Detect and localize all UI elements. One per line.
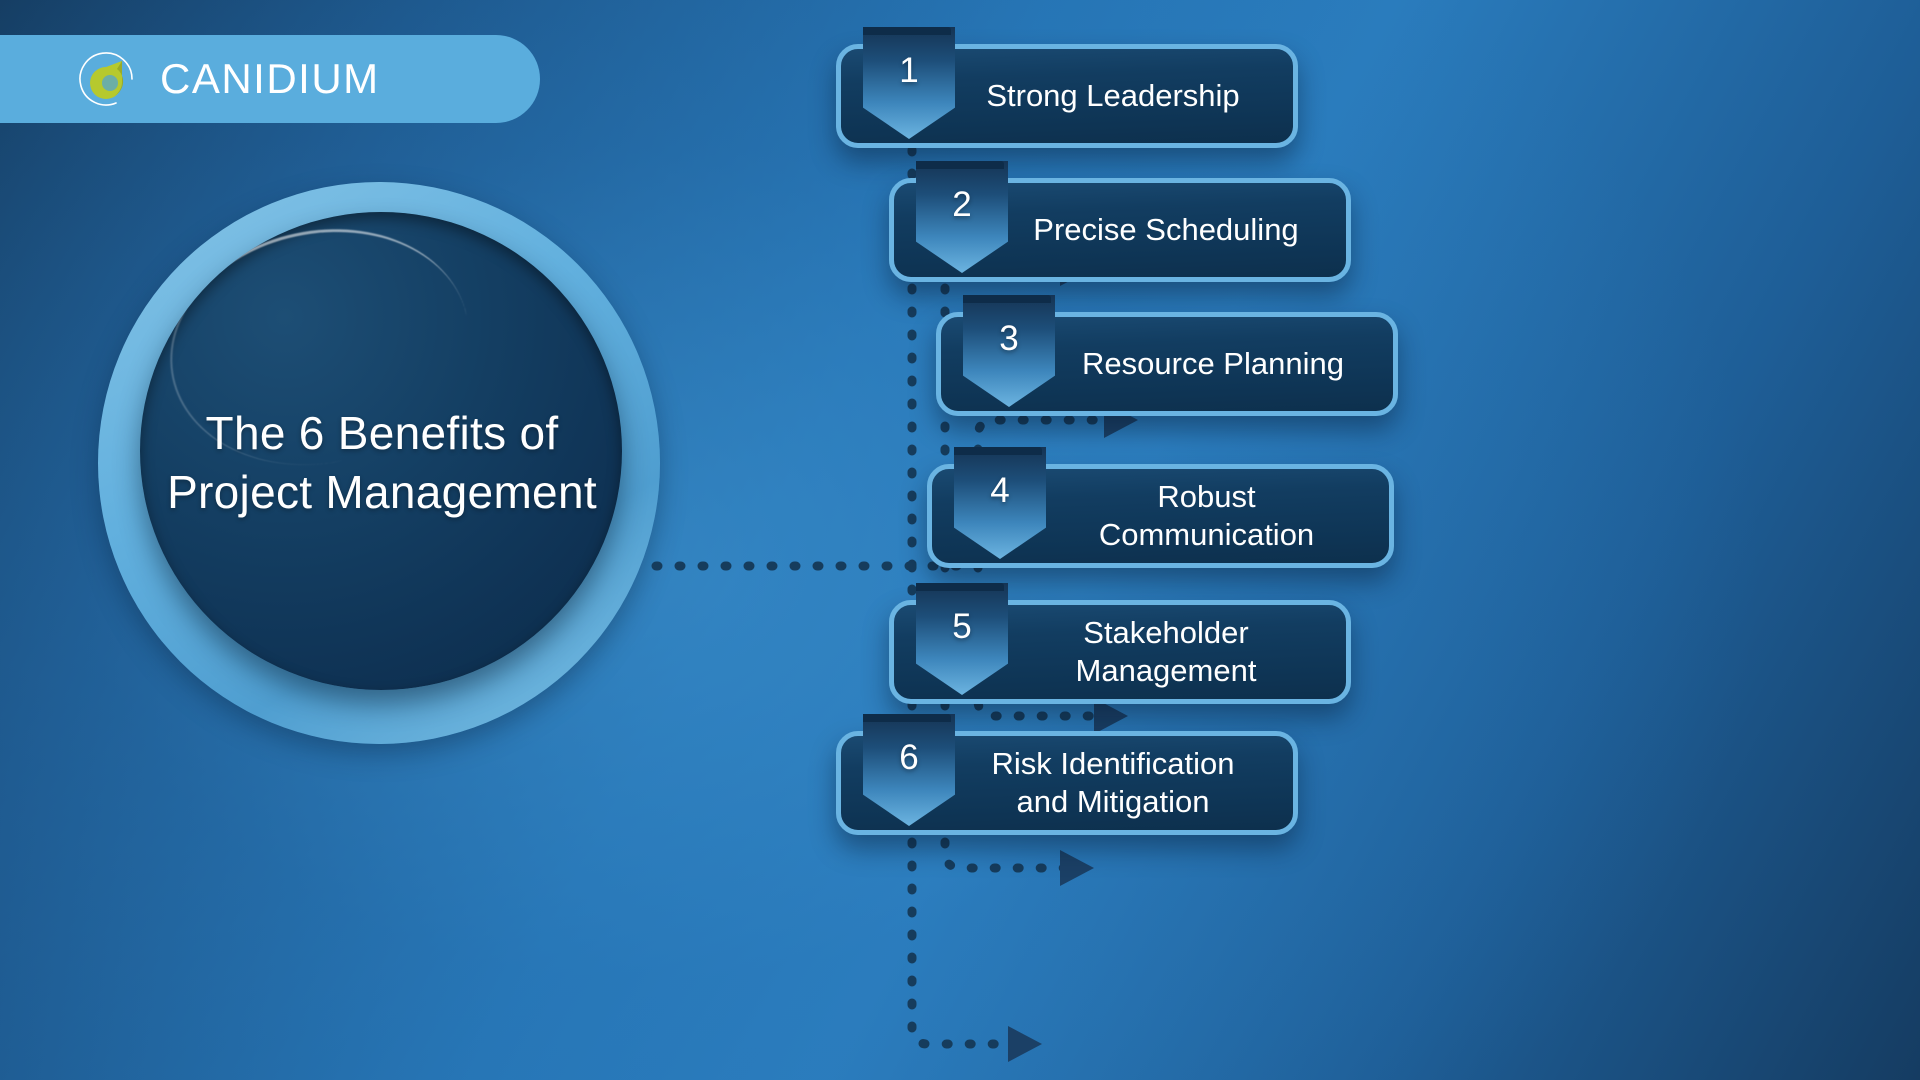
benefit-card[interactable]: 1Strong Leadership: [836, 44, 1298, 148]
benefit-number-badge: 1: [863, 27, 955, 139]
benefit-number: 6: [899, 740, 918, 775]
benefit-card[interactable]: 6Risk Identification and Mitigation: [836, 731, 1298, 835]
benefit-number: 4: [990, 473, 1009, 508]
benefit-number: 2: [952, 187, 971, 222]
benefit-card[interactable]: 4Robust Communication: [927, 464, 1394, 568]
benefit-number: 1: [899, 53, 918, 88]
benefit-number: 5: [952, 609, 971, 644]
benefit-card[interactable]: 3Resource Planning: [936, 312, 1398, 416]
benefit-card[interactable]: 5Stakeholder Management: [889, 600, 1351, 704]
benefit-number: 3: [999, 321, 1018, 356]
benefit-number-badge: 2: [916, 161, 1008, 273]
infographic-canvas: CANIDIUM The 6 Benefits of Project Manag…: [0, 0, 1920, 1080]
benefit-card[interactable]: 2Precise Scheduling: [889, 178, 1351, 282]
benefit-number-badge: 3: [963, 295, 1055, 407]
